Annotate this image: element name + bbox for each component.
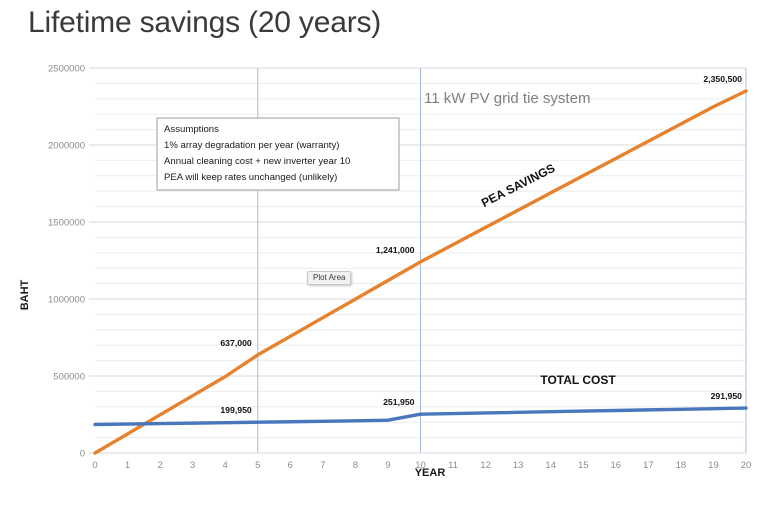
y-axis-title: BAHT	[19, 279, 31, 310]
assumption-line-1: 1% array degradation per year (warranty)	[164, 140, 339, 151]
chart-svg: 05000001000000150000020000002500000 0123…	[0, 52, 770, 510]
y-tick-label: 500000	[53, 372, 85, 383]
x-tick-label: 20	[741, 460, 752, 471]
x-tick-label: 4	[223, 460, 228, 471]
data-point-label: 199,950	[220, 405, 252, 415]
assumptions-box: Assumptions 1% array degradation per yea…	[157, 118, 399, 190]
x-tick-label: 8	[353, 460, 358, 471]
plot-area-tooltip: Plot Area	[307, 271, 351, 285]
x-tick-label: 6	[288, 460, 293, 471]
assumption-line-2: Annual cleaning cost + new inverter year…	[164, 156, 350, 167]
x-tick-label: 13	[513, 460, 524, 471]
data-point-label: 637,000	[220, 338, 252, 348]
series-label-total-cost: TOTAL COST	[540, 373, 616, 387]
x-tick-label: 11	[448, 460, 458, 471]
x-tick-label: 17	[643, 460, 654, 471]
x-tick-label: 14	[545, 460, 556, 471]
savings-chart[interactable]: 05000001000000150000020000002500000 0123…	[0, 52, 770, 510]
x-tick-label: 0	[92, 460, 97, 471]
y-tick-label: 1500000	[48, 218, 85, 229]
x-axis-title: YEAR	[415, 467, 446, 479]
x-tick-label: 9	[385, 460, 390, 471]
system-annotation: 11 kW PV grid tie system	[424, 90, 590, 107]
x-tick-label: 1	[125, 460, 130, 471]
data-point-label: 251,950	[383, 397, 415, 407]
data-point-label: 291,950	[711, 391, 743, 401]
page-title: Lifetime savings (20 years)	[28, 6, 381, 40]
x-tick-label: 2	[157, 460, 162, 471]
x-tick-label: 18	[676, 460, 687, 471]
x-tick-label: 19	[708, 460, 719, 471]
y-tick-label: 1000000	[48, 295, 85, 306]
x-tick-label: 15	[578, 460, 589, 471]
x-tick-label: 3	[190, 460, 195, 471]
y-tick-label: 0	[80, 449, 85, 460]
x-tick-label: 5	[255, 460, 260, 471]
x-tick-label: 12	[480, 460, 491, 471]
data-point-label: 2,350,500	[703, 74, 742, 84]
assumption-line-3: PEA will keep rates unchanged (unlikely)	[164, 172, 337, 183]
x-tick-label: 16	[611, 460, 622, 471]
x-tick-label: 7	[320, 460, 325, 471]
y-tick-label: 2500000	[48, 64, 85, 75]
y-tick-label: 2000000	[48, 141, 85, 152]
y-axis-ticks: 05000001000000150000020000002500000	[48, 64, 95, 460]
data-point-label: 1,241,000	[376, 245, 415, 255]
assumptions-heading: Assumptions	[164, 124, 219, 135]
